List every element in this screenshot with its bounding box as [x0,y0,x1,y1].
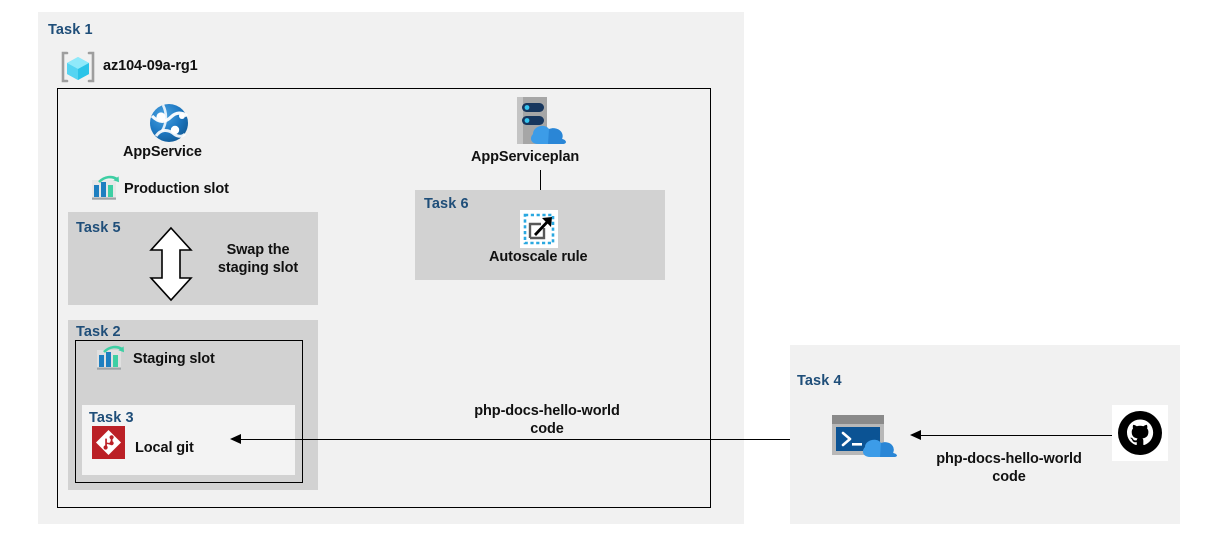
github-to-cloudshell-arrow-line [920,435,1112,436]
center-flow-line1: php-docs-hello-world [474,403,619,419]
task6-label: Task 6 [424,196,469,212]
appserviceplan-label: AppServiceplan [471,149,579,165]
resource-group-name: az104-09a-rg1 [103,58,198,74]
task4-transfer-label: php-docs-hello-world code [924,450,1094,486]
resource-group-cube-icon [60,50,96,84]
staging-slot-label: Staging slot [133,351,215,367]
task4-transfer-line1: php-docs-hello-world [936,451,1081,467]
github-to-cloudshell-arrow-head [910,430,921,440]
deployment-slot-chart-icon-staging [95,346,125,374]
github-octocat-icon [1112,405,1168,461]
task5-label: Task 5 [76,220,121,236]
appservice-label: AppService [123,144,202,160]
production-slot-label: Production slot [124,181,229,197]
cloudshell-to-localgit-arrow-line [240,439,818,440]
app-service-plan-server-cloud-icon [508,96,576,148]
task2-label: Task 2 [76,324,121,340]
autoscale-expand-arrow-icon [520,210,558,248]
task4-transfer-line2: code [992,469,1025,485]
task5-action-line1: Swap the [227,242,290,258]
swap-double-arrow-icon [146,226,196,302]
app-service-globe-icon [149,103,189,143]
cloud-shell-terminal-icon [830,413,902,461]
task3-label: Task 3 [89,410,134,426]
center-flow-label: php-docs-hello-world code [462,402,632,438]
git-repository-icon [92,426,125,459]
task5-action-line2: staging slot [218,260,298,276]
task5-action-label: Swap the staging slot [203,241,313,277]
diagram-canvas: Task 1 az104-09a-rg1 [0,0,1218,545]
cloudshell-to-localgit-arrow-head [230,434,241,444]
task1-label: Task 1 [48,22,93,38]
autoscale-rule-label: Autoscale rule [489,249,588,265]
task4-label: Task 4 [797,373,842,389]
local-git-label: Local git [135,440,194,456]
center-flow-line2: code [530,421,563,437]
deployment-slot-chart-icon-production [90,176,120,204]
